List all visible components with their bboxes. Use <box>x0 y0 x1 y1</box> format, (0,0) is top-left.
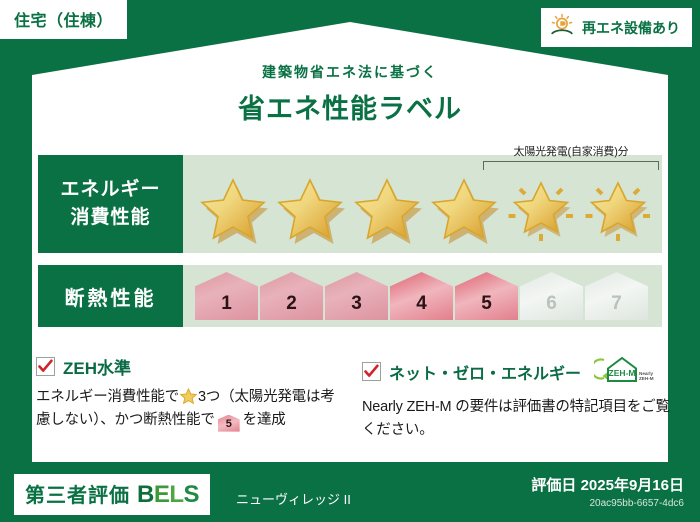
criteria-netzero-title: ネット・ゼロ・エネルギー <box>389 360 581 384</box>
star-solar <box>505 172 578 244</box>
criteria-netzero-header: ネット・ゼロ・エネルギー ZEH-M Nearly ZEH-M <box>362 354 674 389</box>
energy-label-line2: 消費性能 <box>70 204 150 232</box>
insulation-label-text: 断熱性能 <box>65 282 157 311</box>
energy-label-line1: エネルギー <box>60 176 160 204</box>
insulation-grade-area: 1 2 3 4 5 6 7 <box>183 265 662 327</box>
evaluation-id: 20ac95bb-6657-4dc6 <box>531 498 684 509</box>
solar-sun-icon <box>549 13 575 42</box>
evaluation-info: 評価日 2025年9月16日 20ac95bb-6657-4dc6 <box>531 474 684 509</box>
insulation-grade-badge-5: 5 <box>455 272 518 320</box>
criteria-net-zero-energy: ネット・ゼロ・エネルギー ZEH-M Nearly ZEH-M Nearly Z… <box>362 354 674 441</box>
energy-performance-label: エネルギー 消費性能 <box>38 155 183 253</box>
bels-logo: BELS <box>137 481 199 509</box>
solar-annotation-bracket <box>483 161 659 170</box>
svg-text:ZEH-M: ZEH-M <box>609 368 636 378</box>
insulation-performance-label: 断熱性能 <box>38 265 183 327</box>
gold-star-icon <box>180 388 197 404</box>
energy-label-card: 住宅（住棟） 再エネ設備あり 建築物省エネ法に基づく 省エネ性能ラベル <box>0 0 700 522</box>
bels-letter-s: S <box>184 481 200 508</box>
svg-text:ZEH-M: ZEH-M <box>639 376 654 381</box>
inline-grade-badge: 5 <box>218 415 240 432</box>
criteria-zeh-body-part1: エネルギー消費性能で <box>36 389 179 405</box>
evaluation-date-label: 評価日 <box>531 477 576 494</box>
building-name: ニューヴィレッジ II <box>236 489 351 508</box>
title-heading: 省エネ性能ラベル <box>0 87 700 126</box>
evaluation-date: 評価日 2025年9月16日 <box>531 474 684 495</box>
star-rating-group <box>197 172 655 244</box>
insulation-grade-badge-4: 4 <box>390 272 453 320</box>
building-type-label: 住宅（住棟） <box>14 7 113 31</box>
bels-letter-l: L <box>169 481 183 508</box>
insulation-grade-badge-1: 1 <box>195 272 258 320</box>
insulation-grade-badge-3: 3 <box>325 272 388 320</box>
star-filled <box>428 172 501 244</box>
criteria-zeh-title: ZEH水準 <box>63 354 131 379</box>
energy-rating-area: 太陽光発電(自家消費)分 <box>183 155 662 253</box>
red-check-icon <box>36 357 55 376</box>
title-subtitle: 建築物省エネ法に基づく <box>0 62 700 82</box>
insulation-grade-badge-2: 2 <box>260 272 323 320</box>
label-title: 建築物省エネ法に基づく 省エネ性能ラベル <box>0 62 700 126</box>
bels-certification-box: 第三者評価 BELS <box>14 474 210 515</box>
star-filled <box>351 172 424 244</box>
criteria-zeh-body-part4: を達成 <box>243 412 286 428</box>
red-check-icon <box>362 362 381 381</box>
criteria-zeh-body: エネルギー消費性能で3つ（太陽光発電は考慮しない）、かつ断熱性能で5を達成 <box>36 386 336 432</box>
evaluation-date-value: 2025年9月16日 <box>581 477 684 494</box>
star-solar <box>582 172 655 244</box>
building-type-badge: 住宅（住棟） <box>0 0 127 39</box>
third-party-label: 第三者評価 <box>25 479 130 508</box>
label-footer: 第三者評価 BELS ニューヴィレッジ II 評価日 2025年9月16日 20… <box>0 462 700 522</box>
zeh-m-house-logo: ZEH-M Nearly ZEH-M <box>594 354 656 389</box>
bels-letter-e: E <box>154 481 170 508</box>
criteria-netzero-body: Nearly ZEH-M の要件は評価書の特記項目をご覧ください。 <box>362 396 674 441</box>
criteria-zeh-header: ZEH水準 <box>36 354 336 379</box>
criteria-zeh-body-part2: 3つ（太陽光発電 <box>198 389 306 405</box>
star-filled <box>197 172 270 244</box>
insulation-grade-badge-7: 7 <box>585 272 648 320</box>
bels-letter-b: B <box>137 481 154 508</box>
insulation-grade-badge-6: 6 <box>520 272 583 320</box>
renewable-equipment-badge: 再エネ設備あり <box>541 8 692 47</box>
star-filled <box>274 172 347 244</box>
criteria-zeh-standard: ZEH水準 エネルギー消費性能で3つ（太陽光発電は考慮しない）、かつ断熱性能で5… <box>36 354 336 432</box>
insulation-performance-row: 断熱性能 1 2 3 4 5 6 7 <box>38 265 662 327</box>
renewable-equipment-label: 再エネ設備あり <box>582 18 680 38</box>
energy-performance-row: エネルギー 消費性能 <box>38 155 662 253</box>
